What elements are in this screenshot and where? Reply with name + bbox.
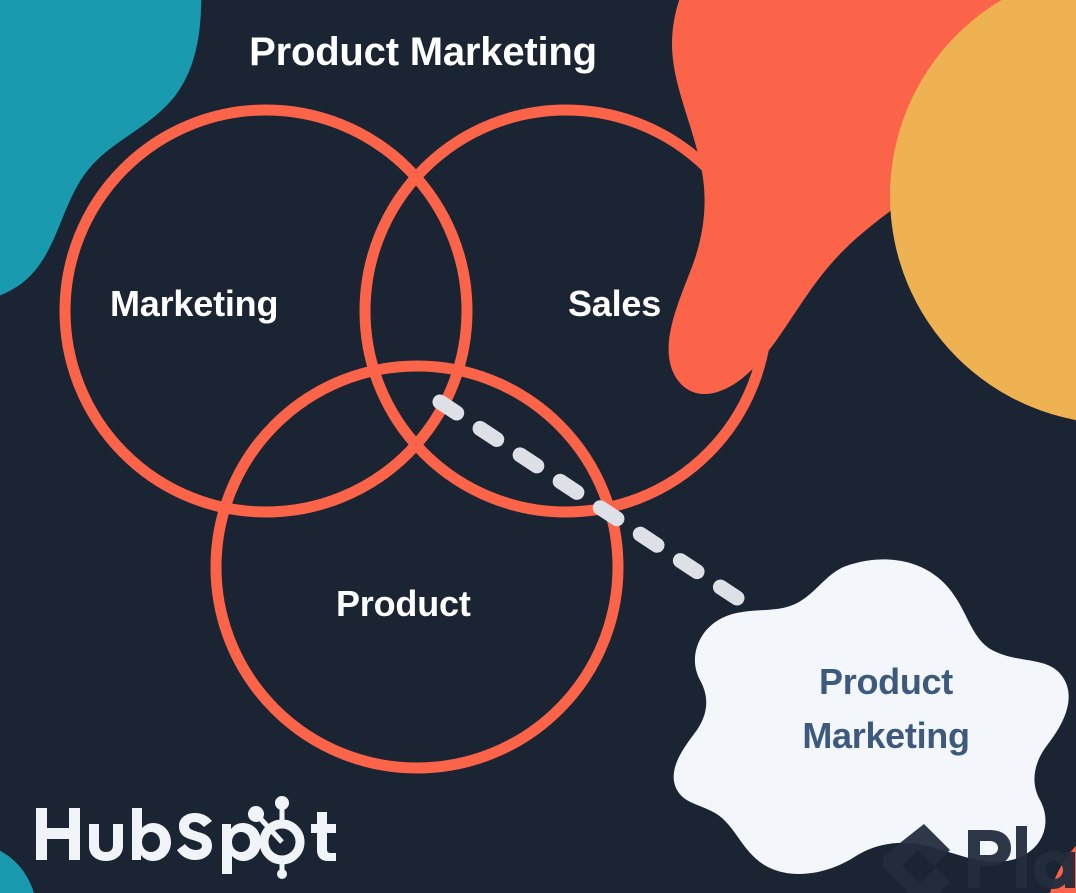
callout-line-2: Marketing xyxy=(727,709,1045,763)
platzi-wordmark xyxy=(968,826,1076,889)
page-title: Product Marketing xyxy=(0,28,961,76)
callout-line-1: Product xyxy=(727,655,1045,709)
venn-label-sales: Sales xyxy=(568,282,661,326)
platzi-bracket-icon xyxy=(883,824,950,893)
callout-label: Product Marketing xyxy=(727,655,1045,763)
infographic-canvas: Product Marketing Marketing Sales Produc… xyxy=(0,0,1076,893)
venn-label-product: Product xyxy=(336,582,471,626)
venn-label-marketing: Marketing xyxy=(110,282,278,326)
